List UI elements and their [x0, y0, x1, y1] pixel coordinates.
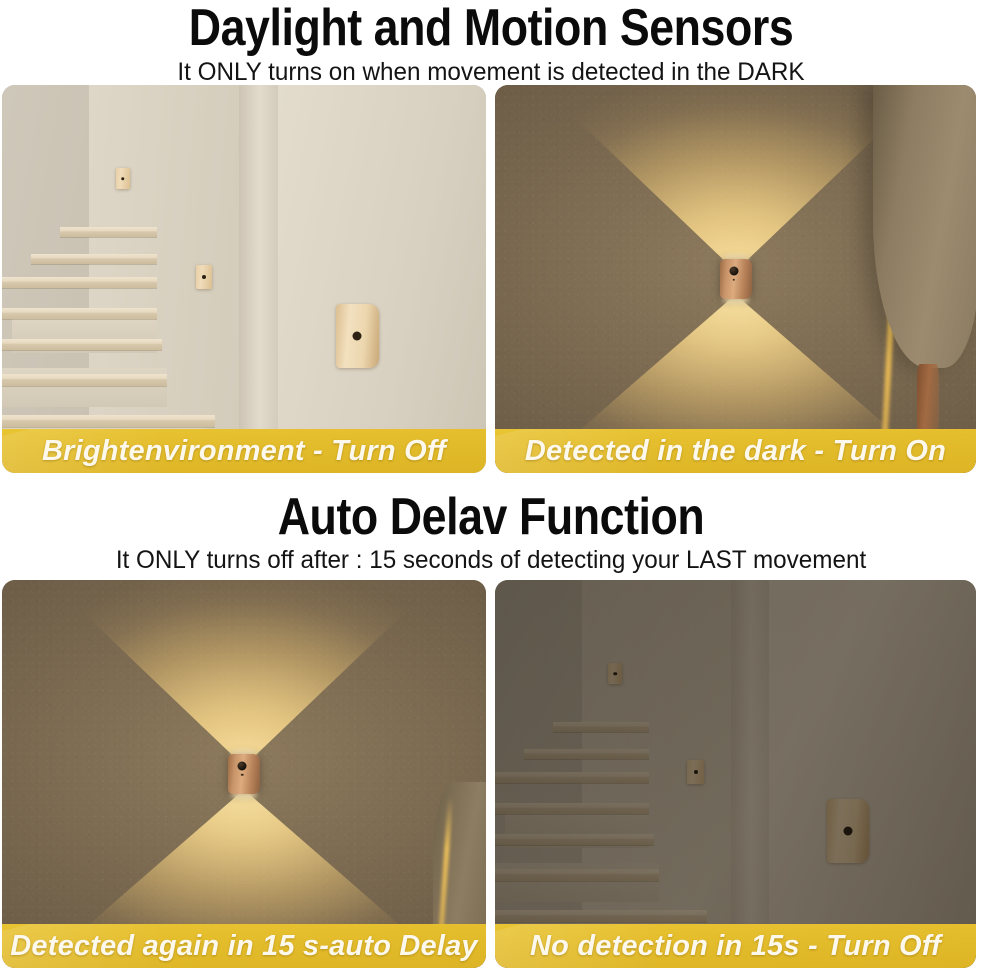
wall-lamp	[720, 259, 752, 299]
stair-tread	[2, 374, 167, 386]
scene-dark-wall-lamp-on-2	[2, 580, 486, 968]
section-1-headline: Daylight and Motion Sensors	[69, 2, 914, 54]
caption-text: Detected again in 15 s-auto Delay	[10, 932, 478, 961]
wall-lamp	[228, 754, 260, 794]
panel-detected-again	[2, 580, 486, 968]
indicator-dot-icon	[732, 279, 735, 282]
sensor-light-main	[336, 304, 379, 368]
wall-right	[278, 85, 486, 473]
stair-tread	[31, 254, 157, 264]
indicator-dot-icon	[241, 774, 244, 777]
person-skirt	[873, 85, 976, 368]
sensor-light-middle	[196, 265, 212, 289]
stair-tread	[2, 308, 157, 319]
caption-text: Detected in the dark - Turn On	[525, 437, 946, 466]
panel-no-detection	[495, 580, 976, 968]
caption-text: Brightenvironment - Turn Off	[42, 437, 446, 466]
caption-bar-detected-dark: Detected in the dark - Turn On	[495, 429, 976, 473]
sensor-lens-icon	[353, 332, 362, 341]
caption-bar-no-detection: No detection in 15s - Turn Off	[495, 924, 976, 968]
caption-bar-detected-again: Detected again in 15 s-auto Delay	[2, 924, 486, 968]
sensor-light-upper	[116, 168, 130, 189]
person-figure	[851, 85, 976, 473]
sensor-lens-icon	[202, 275, 206, 279]
motion-sensor-lens-icon	[729, 267, 738, 276]
panel-bright-environment	[2, 85, 486, 473]
stair-tread	[2, 415, 215, 427]
section-2-headline: Auto Delav Function	[69, 491, 914, 543]
darkness-gradient	[495, 580, 976, 968]
stair-tread	[2, 277, 157, 288]
section-2-subhead: It ONLY turns off after : 15 seconds of …	[15, 548, 968, 573]
caption-bar-bright-off: Brightenvironment - Turn Off	[2, 429, 486, 473]
section-1-subhead: It ONLY turns on when movement is detect…	[15, 60, 968, 85]
sensor-lens-icon	[121, 177, 125, 181]
stair-tread	[60, 227, 157, 237]
scene-dark-wall-lamp-on	[495, 85, 976, 473]
motion-sensor-lens-icon	[238, 762, 247, 771]
caption-text: No detection in 15s - Turn Off	[530, 932, 941, 961]
scene-dark-stairwell	[495, 580, 976, 968]
scene-bright-stairwell	[2, 85, 486, 473]
stair-tread	[2, 339, 162, 350]
panel-detected-in-dark	[495, 85, 976, 473]
